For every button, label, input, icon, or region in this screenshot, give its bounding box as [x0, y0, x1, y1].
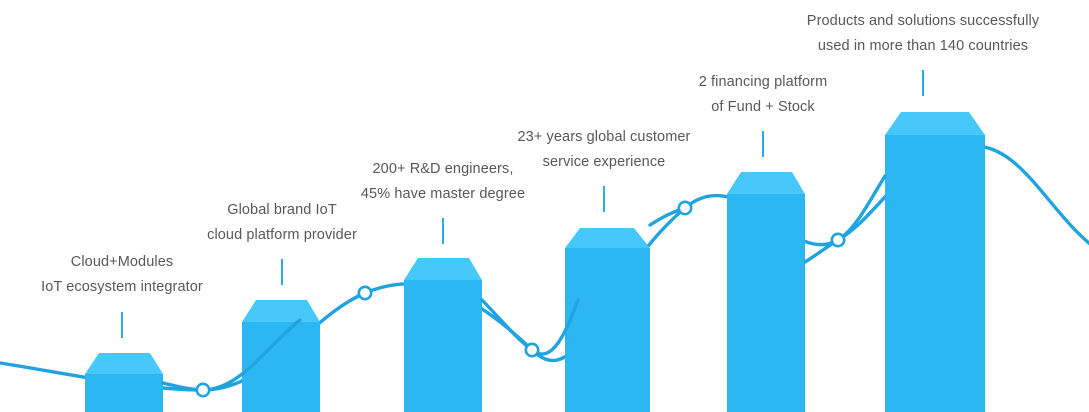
caption-step-1: Cloud+Modules IoT ecosystem integrator: [22, 250, 222, 300]
caption-step-6-line-1: Products and solutions successfully: [782, 9, 1064, 34]
bar-front-face-1: [85, 374, 163, 412]
bar-front-face-6: [885, 135, 985, 412]
bar-front-face-4: [565, 248, 650, 412]
bar-top-face-3: [404, 258, 482, 280]
caption-step-1-line-2: IoT ecosystem integrator: [22, 275, 222, 300]
caption-step-1-line-1: Cloud+Modules: [22, 250, 222, 275]
trend-curve-foreground-seg-4: [805, 176, 885, 262]
curve-node-marker-5: [832, 234, 844, 246]
caption-step-4-line-1: 23+ years global customer: [487, 125, 721, 150]
bar-front-face-3: [404, 280, 482, 412]
bar-step-6: [885, 112, 985, 412]
bar-top-face-4: [565, 228, 650, 248]
caption-step-2-line-2: cloud platform provider: [182, 223, 382, 248]
curve-node-marker-4: [679, 202, 691, 214]
caption-step-6: Products and solutions successfully used…: [782, 9, 1064, 59]
bar-top-face-5: [727, 172, 805, 194]
bar-step-2: [242, 300, 320, 412]
caption-step-5-line-1: 2 financing platform: [665, 70, 861, 95]
bar-step-1: [85, 353, 163, 412]
curve-node-marker-2: [359, 287, 371, 299]
bar-top-face-1: [85, 353, 163, 374]
curve-node-marker-1: [197, 384, 209, 396]
caption-step-5-line-2: of Fund + Stock: [665, 95, 861, 120]
caption-step-6-line-2: used in more than 140 countries: [782, 34, 1064, 59]
bar-front-face-5: [727, 194, 805, 412]
bar-top-face-2: [242, 300, 320, 322]
curve-node-marker-3: [526, 344, 538, 356]
bar-step-3: [404, 258, 482, 412]
bar-step-4: [565, 228, 650, 412]
bar-step-5: [727, 172, 805, 412]
growth-milestone-infographic: Cloud+Modules IoT ecosystem integrator G…: [0, 0, 1089, 412]
caption-step-3-line-2: 45% have master degree: [341, 182, 545, 207]
caption-step-4-line-2: service experience: [487, 150, 721, 175]
bar-top-face-6: [885, 112, 985, 135]
caption-step-4: 23+ years global customer service experi…: [487, 125, 721, 175]
caption-step-5: 2 financing platform of Fund + Stock: [665, 70, 861, 120]
